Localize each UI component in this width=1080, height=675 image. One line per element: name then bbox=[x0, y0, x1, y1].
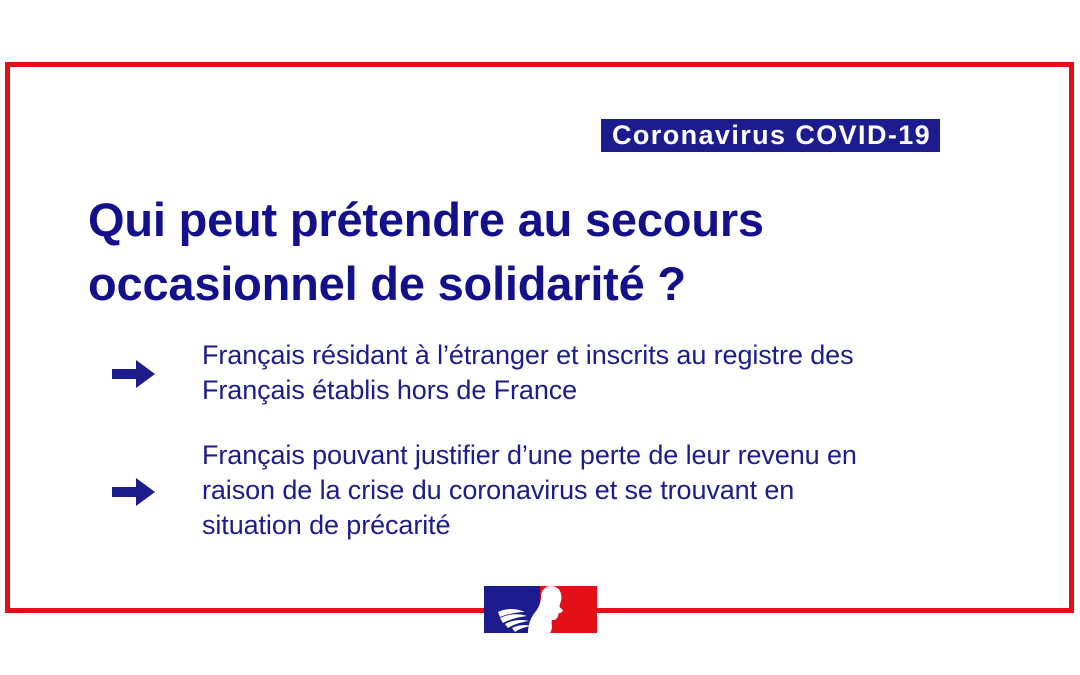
marianne-french-flag-logo bbox=[484, 586, 597, 633]
list-item-line-3: situation de précarité bbox=[202, 508, 1022, 543]
arrow-right-icon bbox=[112, 438, 202, 543]
page-title: Qui peut prétendre au secours occasionne… bbox=[88, 188, 968, 316]
list-item-line-2: raison de la crise du coronavirus et se … bbox=[202, 473, 1022, 508]
list-item-text: Français résidant à l’étranger et inscri… bbox=[202, 338, 1022, 408]
poster-root: Coronavirus COVID-19 Qui peut prétendre … bbox=[0, 0, 1080, 675]
page-title-line-1: Qui peut prétendre au secours bbox=[88, 188, 968, 252]
list-item-line-2: Français établis hors de France bbox=[202, 373, 1022, 408]
list-item-line-1: Français résidant à l’étranger et inscri… bbox=[202, 338, 1022, 373]
arrow-right-icon bbox=[112, 338, 202, 408]
page-title-line-2: occasionnel de solidarité ? bbox=[88, 252, 968, 316]
list-item-text: Français pouvant justifier d’une perte d… bbox=[202, 438, 1022, 543]
bullet-list: Français résidant à l’étranger et inscri… bbox=[112, 338, 1022, 573]
list-item-line-1: Français pouvant justifier d’une perte d… bbox=[202, 438, 1022, 473]
list-item: Français résidant à l’étranger et inscri… bbox=[112, 338, 1022, 408]
covid-banner: Coronavirus COVID-19 bbox=[601, 119, 940, 152]
list-item: Français pouvant justifier d’une perte d… bbox=[112, 438, 1022, 543]
